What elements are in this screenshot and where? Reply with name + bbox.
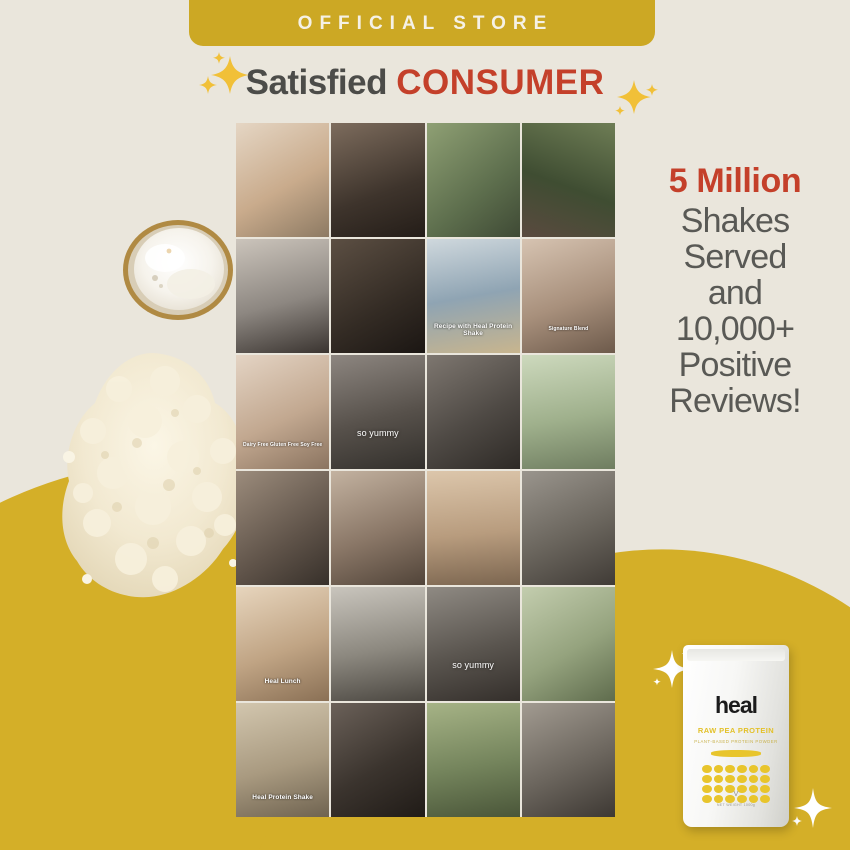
collage-cell: so yummy <box>427 587 520 701</box>
collage-cell <box>331 239 424 353</box>
product-subtitle: PLANT-BASED PROTEIN POWDER <box>683 739 789 744</box>
pouch-seal <box>687 649 785 662</box>
official-store-label: OFFICIAL STORE <box>291 14 554 33</box>
protein-shake-bowl-image <box>121 218 236 322</box>
collage-cell: Heal Lunch <box>236 587 329 701</box>
collage-cell <box>427 471 520 585</box>
collage-caption: Dairy Free Gluten Free Soy Free <box>236 443 329 449</box>
collage-cell <box>236 239 329 353</box>
collage-cell: so yummy <box>331 355 424 469</box>
collage-cell <box>331 703 424 817</box>
product-pouch[interactable]: heal RAW PEA PROTEIN PLANT-BASED PROTEIN… <box>683 645 789 827</box>
stats-line: Shakes <box>626 203 844 239</box>
collage-cell <box>522 587 615 701</box>
sparkle-icon <box>789 786 833 830</box>
collage-cell <box>427 123 520 237</box>
page-title: Satisfied CONSUMER <box>0 58 850 106</box>
poster-canvas: Recipe with Heal Protein Shake Signature… <box>0 0 850 850</box>
collage-cell <box>427 703 520 817</box>
collage-cell <box>331 587 424 701</box>
stats-line: Positive <box>626 347 844 383</box>
stats-line: Served <box>626 239 844 275</box>
pouch-body: heal RAW PEA PROTEIN PLANT-BASED PROTEIN… <box>683 645 789 827</box>
collage-caption: Recipe with Heal Protein Shake <box>427 323 520 337</box>
collage-caption: so yummy <box>331 429 424 439</box>
collage-cell <box>331 471 424 585</box>
collage-cell <box>236 471 329 585</box>
protein-powder-pile-image <box>57 347 257 602</box>
collage-cell: Signature Blend <box>522 239 615 353</box>
collage-cell <box>522 123 615 237</box>
sparkle-icon <box>610 74 660 118</box>
sparkle-icon <box>196 52 252 102</box>
stats-headline: 5 Million <box>626 163 844 199</box>
collage-cell <box>331 123 424 237</box>
collage-cell <box>522 703 615 817</box>
pouch-footer-text: NET WEIGHT 1000g <box>683 803 789 807</box>
collage-cell <box>427 355 520 469</box>
stats-block: 5 Million Shakes Served and 10,000+ Posi… <box>626 163 844 419</box>
flavor-badge <box>711 750 762 757</box>
product-name: RAW PEA PROTEIN <box>683 727 789 735</box>
collage-cell <box>522 355 615 469</box>
page-title-text: Satisfied CONSUMER <box>246 65 605 100</box>
stats-line: 10,000+ <box>626 311 844 347</box>
title-plain-part: Satisfied <box>246 63 397 102</box>
collage-caption: Heal Protein Shake <box>236 794 329 801</box>
collage-cell: Heal Protein Shake <box>236 703 329 817</box>
collage-caption: Heal Lunch <box>236 678 329 685</box>
title-accent-part: CONSUMER <box>396 63 604 102</box>
stats-line: Reviews! <box>626 383 844 419</box>
collage-cell: Dairy Free Gluten Free Soy Free <box>236 355 329 469</box>
vegan-icon: V <box>734 791 739 798</box>
collage-caption: so yummy <box>427 661 520 671</box>
official-store-banner: OFFICIAL STORE <box>189 0 655 46</box>
collage-cell: Recipe with Heal Protein Shake <box>427 239 520 353</box>
collage-caption: Signature Blend <box>522 327 615 333</box>
stats-line: and <box>626 275 844 311</box>
customer-photo-collage: Recipe with Heal Protein Shake Signature… <box>236 123 615 817</box>
collage-cell <box>522 471 615 585</box>
brand-logo: heal <box>683 694 789 717</box>
collage-cell <box>236 123 329 237</box>
